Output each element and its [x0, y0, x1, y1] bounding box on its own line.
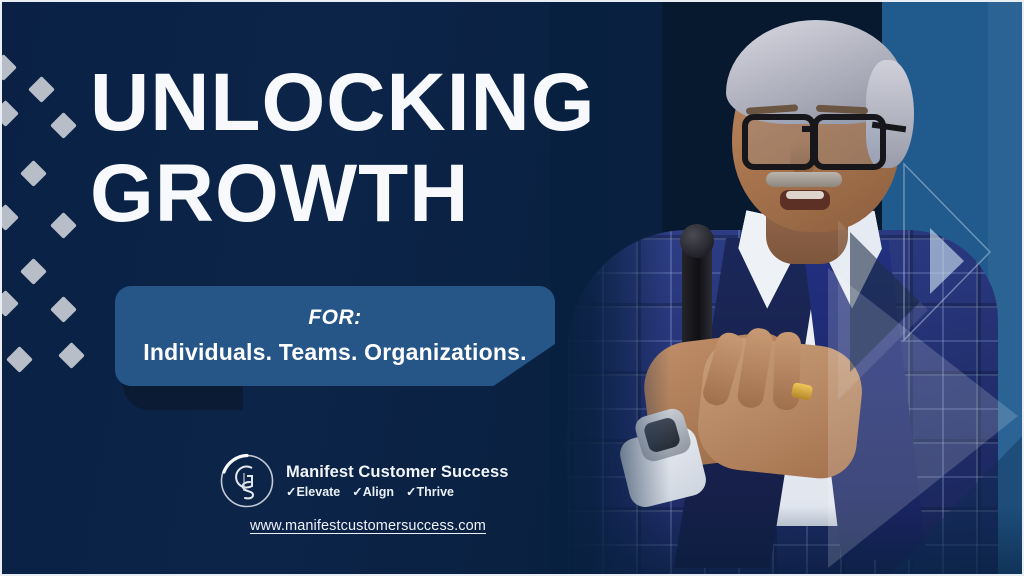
- tagline-align: ✓Align: [352, 484, 394, 499]
- manifest-monogram-icon: [218, 452, 276, 510]
- headline-line-2: GROWTH: [90, 155, 650, 234]
- banner-canvas: UNLOCKING GROWTH FOR: Individuals. Teams…: [0, 0, 1024, 576]
- diamond-icon: [20, 258, 47, 285]
- brand-name: Manifest Customer Success: [286, 463, 509, 481]
- triangle-decor: [886, 432, 1024, 576]
- diamond-icon: [50, 212, 77, 239]
- page-title: UNLOCKING GROWTH: [90, 64, 650, 233]
- headline-line-1: UNLOCKING: [90, 57, 596, 148]
- diamond-icon: [0, 100, 19, 127]
- logo-text-block: Manifest Customer Success ✓Elevate ✓Alig…: [286, 463, 509, 499]
- microphone-head: [680, 224, 714, 258]
- brand-taglines: ✓Elevate ✓Align ✓Thrive: [286, 484, 509, 499]
- callout-box: FOR: Individuals. Teams. Organizations.: [115, 286, 555, 386]
- brand-logo[interactable]: Manifest Customer Success ✓Elevate ✓Alig…: [218, 450, 518, 512]
- tagline-thrive: ✓Thrive: [406, 484, 454, 499]
- audience-callout: FOR: Individuals. Teams. Organizations.: [115, 286, 567, 412]
- glasses-icon: [742, 114, 816, 170]
- photo-teeth: [786, 191, 824, 199]
- callout-audience: Individuals. Teams. Organizations.: [143, 339, 526, 366]
- photo-mustache: [766, 172, 842, 187]
- website-url[interactable]: www.manifestcustomersuccess.com: [218, 518, 518, 534]
- diamond-icon: [50, 112, 77, 139]
- diamond-icon: [0, 204, 19, 231]
- callout-label: FOR:: [308, 306, 361, 330]
- diamond-icon: [20, 160, 47, 187]
- tagline-elevate: ✓Elevate: [286, 484, 340, 499]
- glasses-bridge: [802, 126, 816, 132]
- photo-finger: [773, 332, 802, 411]
